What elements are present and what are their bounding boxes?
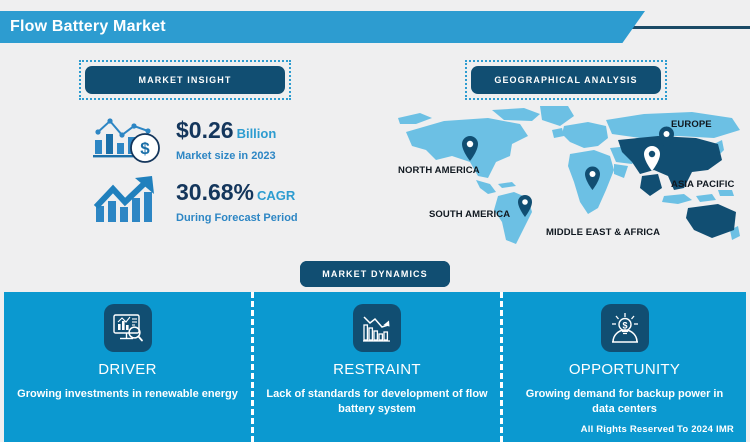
opportunity-description: Growing demand for backup power in data …	[503, 387, 746, 417]
dynamics-column-restraint: RESTRAINT Lack of standards for developm…	[254, 292, 500, 442]
bar-chart-dollar-icon: $	[92, 112, 164, 168]
market-size-unit: Billion	[237, 126, 277, 141]
cagr-subtitle: During Forecast Period	[176, 212, 298, 224]
opportunity-title: OPPORTUNITY	[569, 361, 680, 378]
market-dynamics-heading-box: MARKET DYNAMICS	[300, 261, 450, 287]
page-title: Flow Battery Market	[10, 11, 166, 43]
geographical-analysis-label: GEOGRAPHICAL ANALYSIS	[471, 66, 661, 94]
growth-arrow-icon	[92, 174, 164, 230]
cagr-unit: CAGR	[257, 188, 295, 203]
map-label-middle-east-africa: MIDDLE EAST & AFRICA	[546, 227, 660, 238]
monitor-analytics-search-icon	[104, 304, 152, 352]
map-label-south-america: SOUTH AMERICA	[429, 209, 510, 220]
stat-cagr-text: 30.68%CAGR During Forecast Period	[176, 180, 298, 224]
dynamics-column-opportunity: $ OPPORTUNITY Growing demand for backup …	[503, 292, 746, 442]
stat-cagr: 30.68%CAGR During Forecast Period	[92, 174, 298, 230]
market-size-value: $0.26	[176, 117, 234, 143]
driver-title: DRIVER	[98, 361, 156, 378]
market-size-subtitle: Market size in 2023	[176, 150, 276, 162]
market-dynamics-label: MARKET DYNAMICS	[300, 261, 450, 287]
geographical-analysis-heading-box: GEOGRAPHICAL ANALYSIS	[465, 60, 667, 100]
restraint-title: RESTRAINT	[333, 361, 421, 378]
dynamics-column-driver: DRIVER Growing investments in renewable …	[4, 292, 251, 442]
driver-description: Growing investments in renewable energy	[4, 387, 251, 402]
stat-value-row: $0.26Billion	[176, 118, 276, 146]
market-insight-heading-box: MARKET INSIGHT	[79, 60, 291, 100]
lightbulb-dollar-icon: $	[601, 304, 649, 352]
stat-market-size-text: $0.26Billion Market size in 2023	[176, 118, 276, 162]
svg-text:$: $	[140, 139, 150, 158]
stat-market-size: $ $0.26Billion Market size in 2023	[92, 112, 276, 168]
map-label-north-america: NORTH AMERICA	[398, 165, 480, 176]
declining-bar-chart-icon	[353, 304, 401, 352]
infographic-root: Flow Battery Market MARKET INSIGHT $	[0, 0, 750, 442]
market-dynamics-panel: DRIVER Growing investments in renewable …	[4, 292, 746, 442]
svg-text:$: $	[622, 320, 627, 330]
copyright-note: All Rights Reserved To 2024 IMR	[581, 424, 734, 435]
restraint-description: Lack of standards for development of flo…	[254, 387, 500, 417]
market-insight-label: MARKET INSIGHT	[85, 66, 285, 94]
cagr-value: 30.68%	[176, 179, 254, 205]
map-label-europe: EUROPE	[671, 119, 712, 130]
map-label-asia-pacific: ASIA PACIFIC	[671, 179, 734, 190]
stat-value-row: 30.68%CAGR	[176, 180, 298, 208]
header-rule	[620, 26, 750, 29]
header: Flow Battery Market	[0, 11, 750, 43]
